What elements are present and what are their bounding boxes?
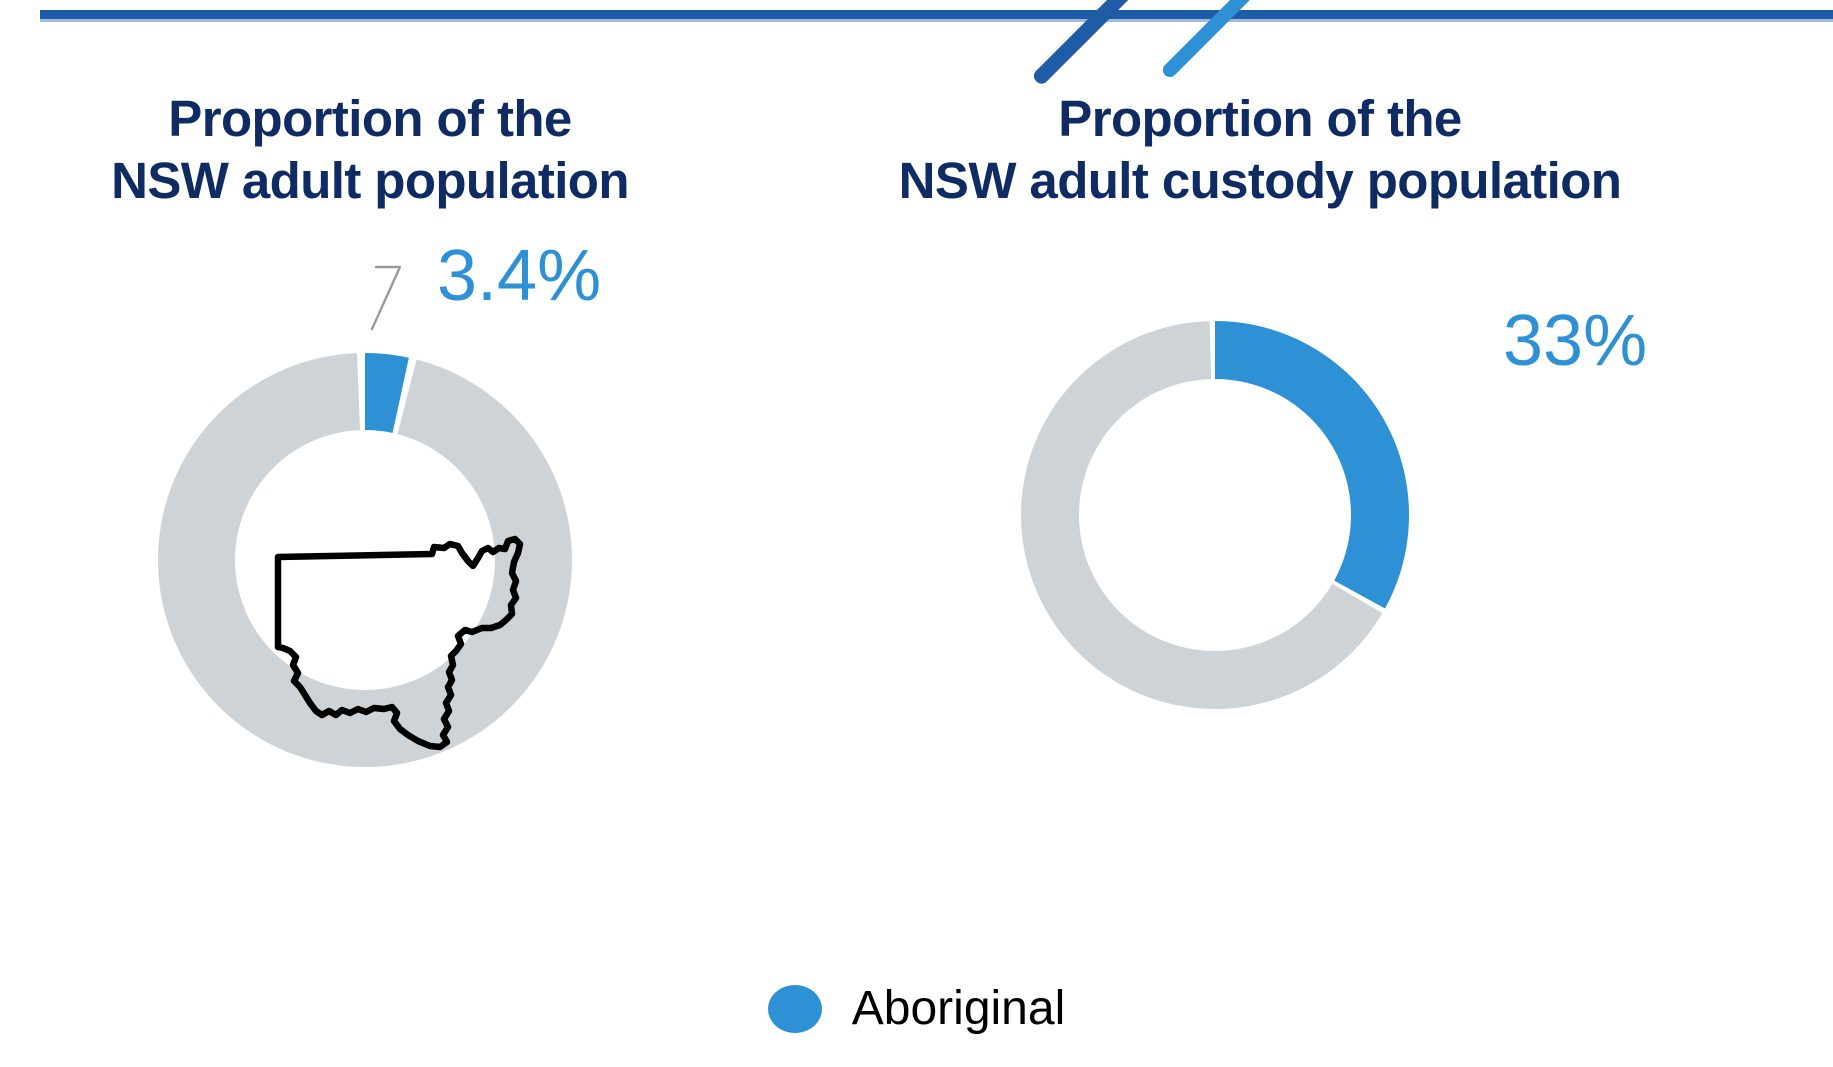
legend: Aboriginal [0, 985, 1833, 1033]
right-panel-title: Proportion of the NSW adult custody popu… [700, 88, 1820, 212]
legend-swatch-aboriginal [768, 985, 822, 1033]
infographic-canvas: Proportion of the NSW adult population P… [0, 0, 1833, 1067]
left-panel-title: Proportion of the NSW adult population [20, 88, 720, 212]
top-rule-shadow [40, 19, 1833, 22]
top-rule [40, 10, 1833, 19]
right-donut-svg [1020, 320, 1410, 710]
right-donut-chart [1020, 320, 1410, 710]
nsw-map-outline-icon [272, 535, 532, 770]
right-value-label: 33% [1503, 305, 1647, 377]
right-donut-hole [1079, 379, 1351, 651]
left-value-label: 3.4% [437, 240, 601, 312]
legend-label-aboriginal: Aboriginal [852, 985, 1065, 1033]
